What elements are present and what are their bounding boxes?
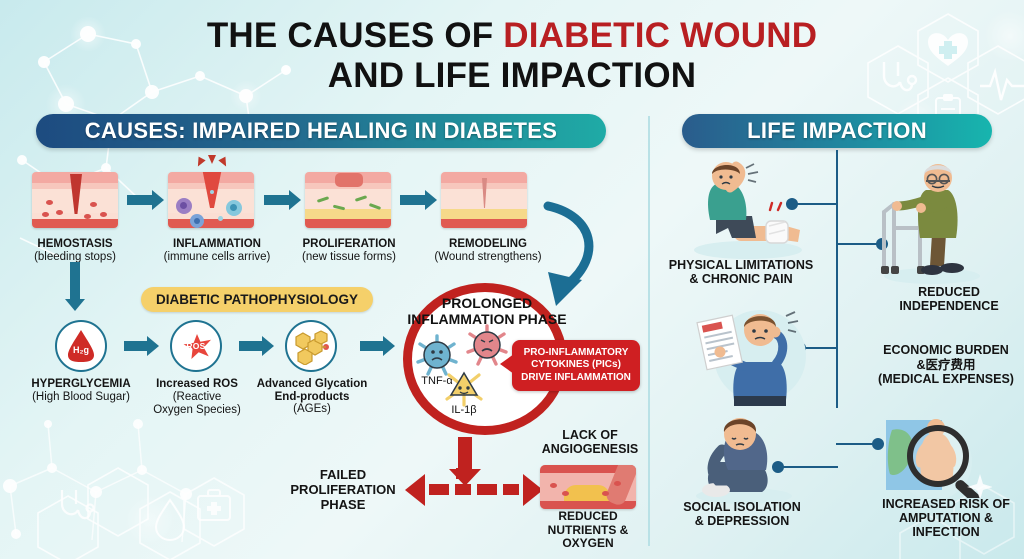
impact-line-1: INCREASED RISK OF [882,497,1010,511]
stage-illustration-proliferation [305,172,391,228]
title-line-2: AND LIFE IMPACTION [0,56,1024,96]
title-red-part: DIABETIC WOUND [503,16,817,55]
node-increased-ros: ROS [170,320,222,372]
angio-line-2: ANGIOGENESIS [542,442,639,456]
impact-label-physical-limitations: PHYSICAL LIMITATIONS & CHRONIC PAIN [656,258,826,286]
elderly-walker-icon [872,156,992,284]
impact-label-social-isolation: SOCIAL ISOLATION & DEPRESSION [660,500,824,528]
amputation-risk-icon [876,412,992,498]
failed-line-1: FAILED [320,467,366,482]
stage-label-proliferation: PROLIFERATION (new tissue forms) [282,238,416,264]
title-black-part: THE CAUSES OF [207,16,503,55]
impact-line-1: SOCIAL ISOLATION [683,500,801,514]
blood-vessel-illustration [540,465,636,509]
dash-segment [503,484,519,495]
impact-line-3: INFECTION [912,525,979,539]
label-increased-ros: Increased ROS (Reactive Oxygen Species) [152,378,242,417]
tree-spine [836,150,838,408]
dash-segment [455,484,471,495]
label-reduced-nutrients-oxygen: REDUCED NUTRIENTS & OXYGEN [526,510,650,551]
impact-line-2: AMPUTATION & [899,511,993,525]
impact-line-1: ECONOMIC BURDEN [883,343,1009,357]
cytokine-label-il1b: IL-1β [436,404,492,416]
infographic-canvas: THE CAUSES OF DIABETIC WOUND AND LIFE IM… [0,0,1024,559]
inflam-title-line1: PROLONGED [442,295,532,311]
impact-line-1: PHYSICAL LIMITATIONS [669,258,813,272]
node-name: HYPERGLYCEMIA [14,378,148,391]
failed-line-2: PROLIFERATION [290,482,395,497]
node-sub: (AGEs) [256,403,368,416]
impact-line-1: REDUCED [918,285,980,299]
arrow-to-failed-proliferation [405,474,425,506]
banner-life-impaction: LIFE IMPACTION [682,114,992,148]
arrow-inflammation-to-proliferation [264,195,290,205]
arrow-hemostasis-to-hyperglycemia [70,262,80,300]
arrow-proliferation-to-remodeling [400,195,426,205]
label-ages: Advanced Glycation End-products (AGEs) [256,378,368,416]
dash-segment [456,468,467,479]
ages-molecule-icon [291,327,331,365]
impact-line-2: &医疗费用 [916,358,975,372]
label-lack-of-angiogenesis: LACK OF ANGIOGENESIS [530,428,650,456]
node-name: Advanced Glycation End-products [256,378,368,403]
injured-person-icon [690,158,808,260]
stage-sub: (immune cells arrive) [142,251,292,264]
reduced-line-3: OXYGEN [562,536,613,550]
impact-label-economic-burden: ECONOMIC BURDEN &医疗费用 (MEDICAL EXPENSES) [866,343,1024,387]
inflammation-arrow-icon [194,157,205,169]
ros-label: ROS [175,327,217,365]
stage-illustration-inflammation [168,172,254,228]
arrow-ros-to-ages [239,341,263,351]
dash-segment [429,484,449,495]
inflammation-arrow-icon [208,155,216,164]
blood-drop-icon [156,500,184,540]
depressed-person-icon [688,406,800,504]
node-sub: (Reactive Oxygen Species) [152,391,242,417]
callout-line-3: DRIVE INFLAMMATION [521,372,631,383]
callout-pro-inflammatory-cytokines: PRO-INFLAMMATORY CYTOKINES (PICs) DRIVE … [512,340,640,391]
banner-causes: CAUSES: IMPAIRED HEALING IN DIABETES [36,114,606,148]
ros-burst-icon: ROS [175,327,217,365]
callout-line-1: PRO-INFLAMMATORY [524,347,629,358]
panel-divider [648,116,650,546]
node-ages [285,320,337,372]
stage-sub: (new tissue forms) [282,251,416,264]
inflammation-arrow-icon [218,157,229,169]
bill-stress-icon [694,300,810,406]
stage-illustration-hemostasis [32,172,118,228]
reduced-line-2: NUTRIENTS & [548,523,629,537]
stage-name: PROLIFERATION [282,238,416,251]
stage-label-hemostasis: HEMOSTASIS (bleeding stops) [6,238,144,264]
arrow-ages-to-inflammation [360,341,384,351]
arrow-inflammation-to-outcomes [458,437,472,471]
svg-text:H₂g: H₂g [73,345,89,355]
node-hyperglycemia: H₂g [55,320,107,372]
impact-label-amputation-risk: INCREASED RISK OF AMPUTATION & INFECTION [862,497,1024,539]
stethoscope-icon [62,490,94,518]
stage-label-inflammation: INFLAMMATION (immune cells arrive) [142,238,292,264]
failed-line-3: PHASE [321,497,366,512]
label-failed-proliferation-phase: FAILED PROLIFERATION PHASE [280,467,406,512]
badge-diabetic-pathophysiology: DIABETIC PATHOPHYSIOLOGY [141,287,373,312]
impact-line-3: (MEDICAL EXPENSES) [878,372,1014,386]
angio-line-1: LACK OF [562,428,618,442]
impact-label-reduced-independence: REDUCED INDEPENDENCE [876,285,1022,313]
label-hyperglycemia: HYPERGLYCEMIA (High Blood Sugar) [14,378,148,404]
reduced-line-1: REDUCED [558,509,617,523]
stage-name: HEMOSTASIS [6,238,144,251]
dash-segment [477,484,497,495]
medical-kit-icon [198,490,230,520]
arrow-hyperglycemia-to-ros [124,341,148,351]
title-line-1: THE CAUSES OF DIABETIC WOUND [0,16,1024,56]
impact-line-2: INDEPENDENCE [899,299,998,313]
arrow-remodeling-to-prolonged [520,200,630,310]
page-title: THE CAUSES OF DIABETIC WOUND AND LIFE IM… [0,16,1024,96]
stage-name: INFLAMMATION [142,238,292,251]
arrow-hemostasis-to-inflammation [127,195,153,205]
blood-drop-icon: H₂g [66,328,96,364]
impact-line-2: & CHRONIC PAIN [689,272,792,286]
callout-line-2: CYTOKINES (PICs) [531,359,621,370]
impact-line-2: & DEPRESSION [695,514,789,528]
stage-illustration-remodeling [441,172,527,228]
cytokine-il1b-icon [441,363,487,409]
node-sub: (High Blood Sugar) [14,391,148,404]
node-name: Increased ROS [152,378,242,391]
